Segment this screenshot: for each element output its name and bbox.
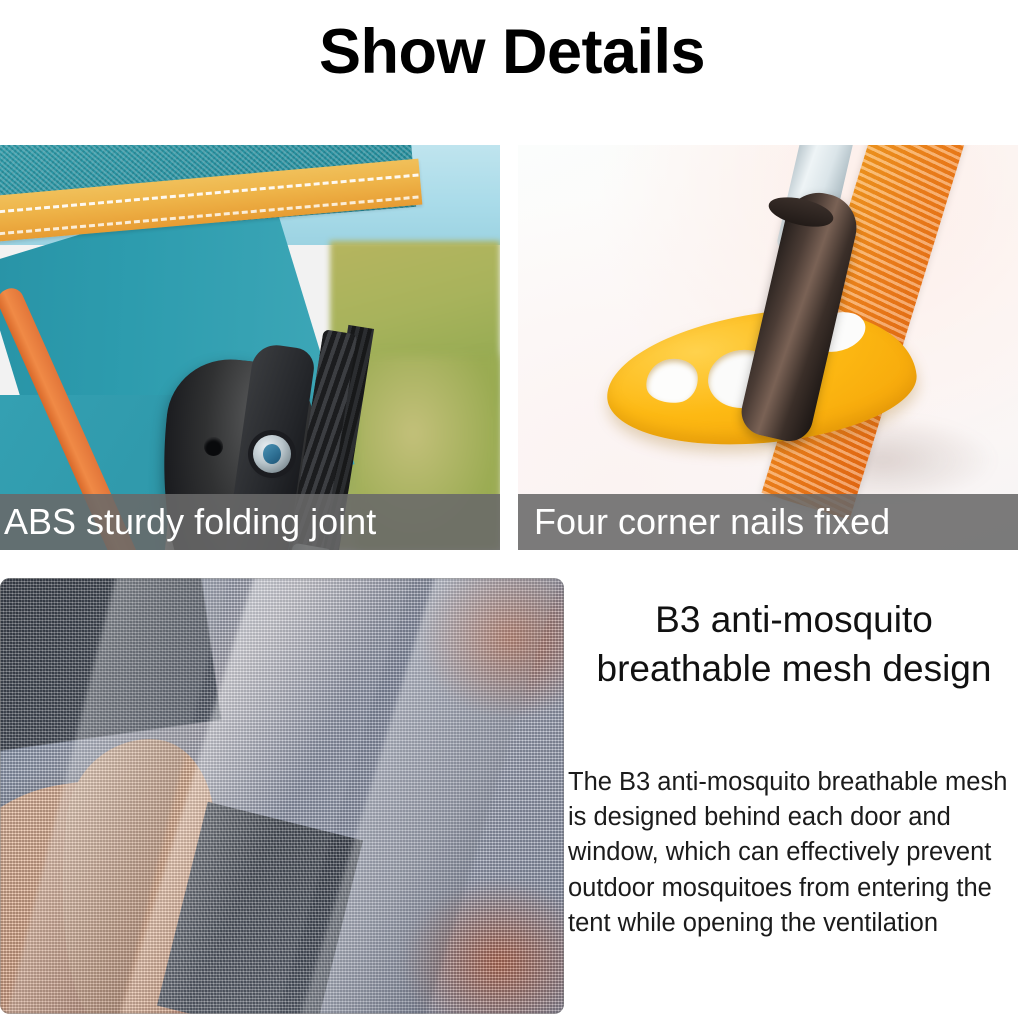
product-photo-four-corner-nails <box>518 145 1018 550</box>
photo-border <box>0 578 564 1014</box>
abs-joint-metal-rivet <box>253 435 291 473</box>
caption-abs-folding-joint: ABS sturdy folding joint <box>0 494 500 550</box>
product-detail-page: Show Details ABS sturdy folding joint <box>0 0 1024 1024</box>
product-photo-abs-folding-joint <box>0 145 500 550</box>
abs-joint-hole <box>204 437 223 456</box>
page-title: Show Details <box>0 19 1024 85</box>
mesh-section-body-text: The B3 anti-mosquito breathable mesh is … <box>568 765 1024 941</box>
mesh-section-heading: B3 anti-mosquito breathable mesh design <box>568 596 1020 694</box>
product-photo-b3-mesh <box>0 578 564 1014</box>
caption-four-corner-nails: Four corner nails fixed <box>518 494 1018 550</box>
